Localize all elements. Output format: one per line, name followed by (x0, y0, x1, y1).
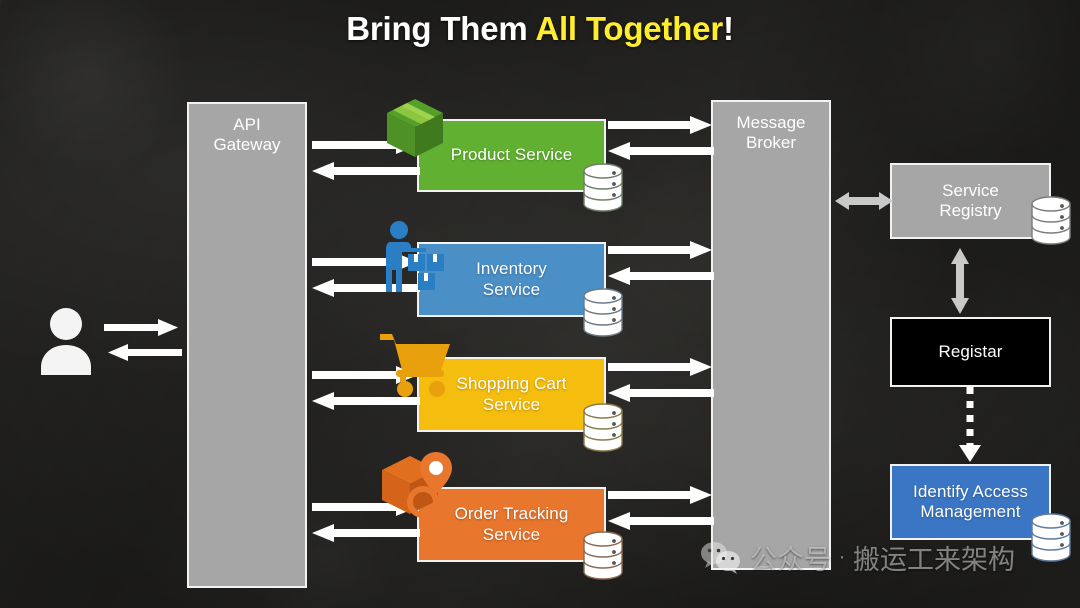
watermark-name: 搬运工来架构 (853, 538, 1015, 577)
title-highlight: All Together (535, 10, 723, 47)
order-tracking-service-database-icon (580, 528, 626, 584)
shopping-cart-icon (378, 330, 456, 400)
product-broker-arrows (608, 116, 714, 164)
service-registry-box[interactable]: ServiceRegistry (890, 163, 1051, 239)
service-registry-database-icon (1028, 193, 1074, 249)
registar-iam-dotted-arrow (955, 387, 985, 463)
watermark-separator: · (839, 547, 845, 569)
warehouse-worker-icon (382, 218, 454, 296)
iam-box[interactable]: Identify AccessManagement (890, 464, 1051, 540)
api-gateway-box[interactable]: APIGateway (187, 102, 307, 588)
wechat-icon (700, 541, 742, 575)
registry-registar-arrow (946, 248, 974, 314)
order-broker-arrows (608, 486, 714, 534)
iam-database-icon (1028, 510, 1074, 566)
inventory-broker-arrows (608, 241, 714, 289)
slide-canvas: Bring Them All Together! APIGateway (0, 0, 1080, 608)
actor-gateway-arrows (104, 318, 182, 366)
title-exclamation: ! (723, 10, 734, 47)
person-icon (36, 305, 96, 377)
service-registry-label: ServiceRegistry (892, 181, 1049, 221)
registar-box[interactable]: Registar (890, 317, 1051, 387)
message-broker-label: MessageBroker (713, 113, 829, 153)
inventory-service-database-icon (580, 285, 626, 341)
api-gateway-label: APIGateway (189, 115, 305, 155)
page-title: Bring Them All Together! (0, 10, 1080, 48)
package-tracking-icon (378, 448, 460, 528)
title-part-1: Bring Them (346, 10, 535, 47)
watermark-account-label: 公众号 (750, 538, 831, 577)
cart-broker-arrows (608, 358, 714, 406)
product-service-database-icon (580, 160, 626, 216)
package-box-icon (383, 95, 447, 159)
iam-label: Identify AccessManagement (892, 482, 1049, 522)
shopping-cart-service-database-icon (580, 400, 626, 456)
broker-registry-arrow (835, 187, 893, 215)
message-broker-box[interactable]: MessageBroker (711, 100, 831, 570)
registar-label: Registar (892, 342, 1049, 362)
watermark: 公众号 · 搬运工来架构 (700, 538, 1015, 577)
